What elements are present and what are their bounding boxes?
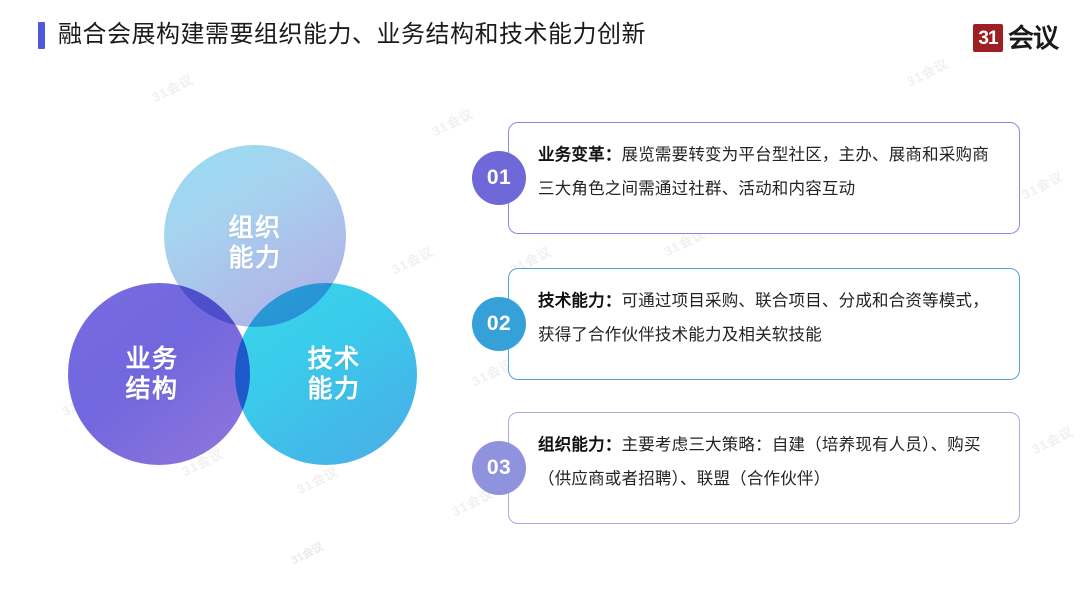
- logo-brand-text: 会议: [1008, 25, 1058, 51]
- venn-circle-technology: 技术 能力: [235, 283, 417, 465]
- venn-circle-business: 业务 结构: [68, 283, 250, 465]
- brand-logo: 31 会议: [973, 22, 1058, 54]
- point-text-02: 技术能力：可通过项目采购、联合项目、分成和合资等模式，获得了合作伙伴技术能力及相…: [538, 284, 992, 352]
- watermark-text: 31会议: [148, 69, 196, 106]
- point-badge-02: 02: [472, 297, 526, 351]
- slide-canvas: 31会议31会议31会议31会议31会议31会议31会议31会议31会议31会议…: [0, 0, 1080, 608]
- page-title: 融合会展构建需要组织能力、业务结构和技术能力创新: [58, 16, 646, 54]
- slide-header: 融合会展构建需要组织能力、业务结构和技术能力创新: [0, 0, 1080, 68]
- watermark-text: 31会议: [428, 103, 476, 140]
- point-separator-02: ：: [605, 292, 622, 310]
- venn-label-organization: 组织 能力: [228, 213, 281, 274]
- venn-diagram: 组织 能力 业务 结构 技术 能力: [55, 140, 455, 505]
- point-badge-01: 01: [472, 151, 526, 205]
- venn-label-technology: 技术 能力: [307, 344, 360, 405]
- point-text-03: 组织能力：主要考虑三大策略：自建（培养现有人员）、购买（供应商或者招聘）、联盟（…: [538, 428, 992, 496]
- point-badge-03: 03: [472, 441, 526, 495]
- points-list: 01 业务变革：展览需要转变为平台型社区，主办、展商和采购商三大角色之间需通过社…: [472, 118, 1032, 538]
- decorative-watermark: 31会议: [288, 538, 326, 568]
- logo-mark-31: 31: [973, 24, 1003, 52]
- point-text-01: 业务变革：展览需要转变为平台型社区，主办、展商和采购商三大角色之间需通过社群、活…: [538, 138, 992, 206]
- point-heading-03: 组织能力: [538, 436, 605, 454]
- point-heading-02: 技术能力: [538, 292, 605, 310]
- watermark-text: 31会议: [1028, 421, 1076, 458]
- point-separator-01: ：: [605, 146, 622, 164]
- title-accent-bar: [38, 22, 45, 49]
- point-separator-03: ：: [605, 436, 622, 454]
- point-heading-01: 业务变革: [538, 146, 605, 164]
- venn-label-business: 业务 结构: [125, 344, 178, 405]
